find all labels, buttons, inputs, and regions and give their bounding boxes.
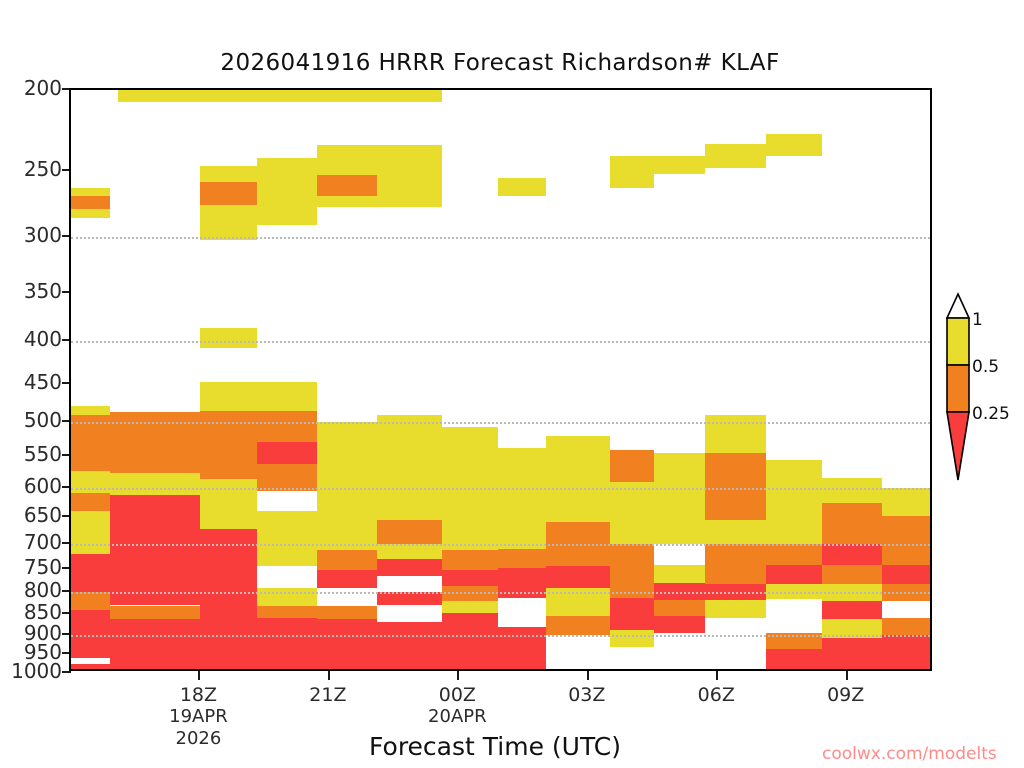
x-axis-tick-mark bbox=[328, 671, 330, 680]
colorbar-tick-label: 1 bbox=[972, 312, 983, 329]
colorbar-tick-label: 0.25 bbox=[972, 406, 1010, 423]
y-axis-tick-label: 750 bbox=[24, 557, 62, 577]
y-axis-tick-label: 800 bbox=[24, 580, 62, 600]
x-axis-tick-mark bbox=[716, 671, 718, 680]
y-axis-tick-mark bbox=[62, 671, 71, 673]
x-axis-tick-label: 00Z bbox=[407, 685, 507, 706]
plot-area bbox=[69, 88, 932, 671]
y-axis-tick-label: 250 bbox=[24, 159, 62, 179]
x-axis-year-label: 2026 bbox=[148, 728, 248, 749]
y-axis-tick-label: 500 bbox=[24, 410, 62, 430]
colorbar-tick-label: 0.5 bbox=[972, 359, 999, 376]
y-axis-tick-label: 200 bbox=[24, 78, 62, 98]
y-axis-tick-label: 650 bbox=[24, 505, 62, 525]
x-axis-tick-mark bbox=[198, 671, 200, 680]
y-axis-tick-label: 350 bbox=[24, 281, 62, 301]
x-axis-tick-label: 09Z bbox=[796, 685, 896, 706]
watermark-label: coolwx.com/modelts bbox=[822, 744, 997, 764]
x-axis-tick-mark bbox=[846, 671, 848, 680]
terrain-layer bbox=[71, 90, 930, 669]
x-axis-title: Forecast Time (UTC) bbox=[260, 732, 730, 761]
page-title: 2026041916 HRRR Forecast Richardson# KLA… bbox=[0, 50, 1000, 76]
colorbar-swatches bbox=[944, 292, 974, 487]
x-axis-tick-label: 06Z bbox=[666, 685, 766, 706]
y-axis-tick-label: 550 bbox=[24, 444, 62, 464]
y-axis-tick-label: 300 bbox=[24, 225, 62, 245]
colorbar-legend: 10.50.25 bbox=[944, 292, 974, 487]
y-axis-tick-label: 700 bbox=[24, 532, 62, 552]
x-axis-tick-mark bbox=[457, 671, 459, 680]
x-axis-date-label: 20APR bbox=[407, 707, 507, 727]
y-axis-tick-label: 450 bbox=[24, 372, 62, 392]
x-axis-date-label: 19APR bbox=[148, 707, 248, 727]
y-axis-tick-label: 850 bbox=[24, 602, 62, 622]
x-axis-tick-mark bbox=[587, 671, 589, 680]
x-axis-tick-label: 21Z bbox=[278, 685, 378, 706]
y-axis-tick-label: 600 bbox=[24, 476, 62, 496]
x-axis-tick-label: 03Z bbox=[537, 685, 637, 706]
chart-canvas: 2026041916 HRRR Forecast Richardson# KLA… bbox=[0, 0, 1024, 768]
y-axis-tick-labels: 2002503003504004505005506006507007508008… bbox=[0, 0, 62, 768]
x-axis-tick-label: 18Z bbox=[148, 685, 248, 706]
y-axis-tick-label: 400 bbox=[24, 329, 62, 349]
y-axis-tick-label: 1000 bbox=[11, 661, 62, 681]
